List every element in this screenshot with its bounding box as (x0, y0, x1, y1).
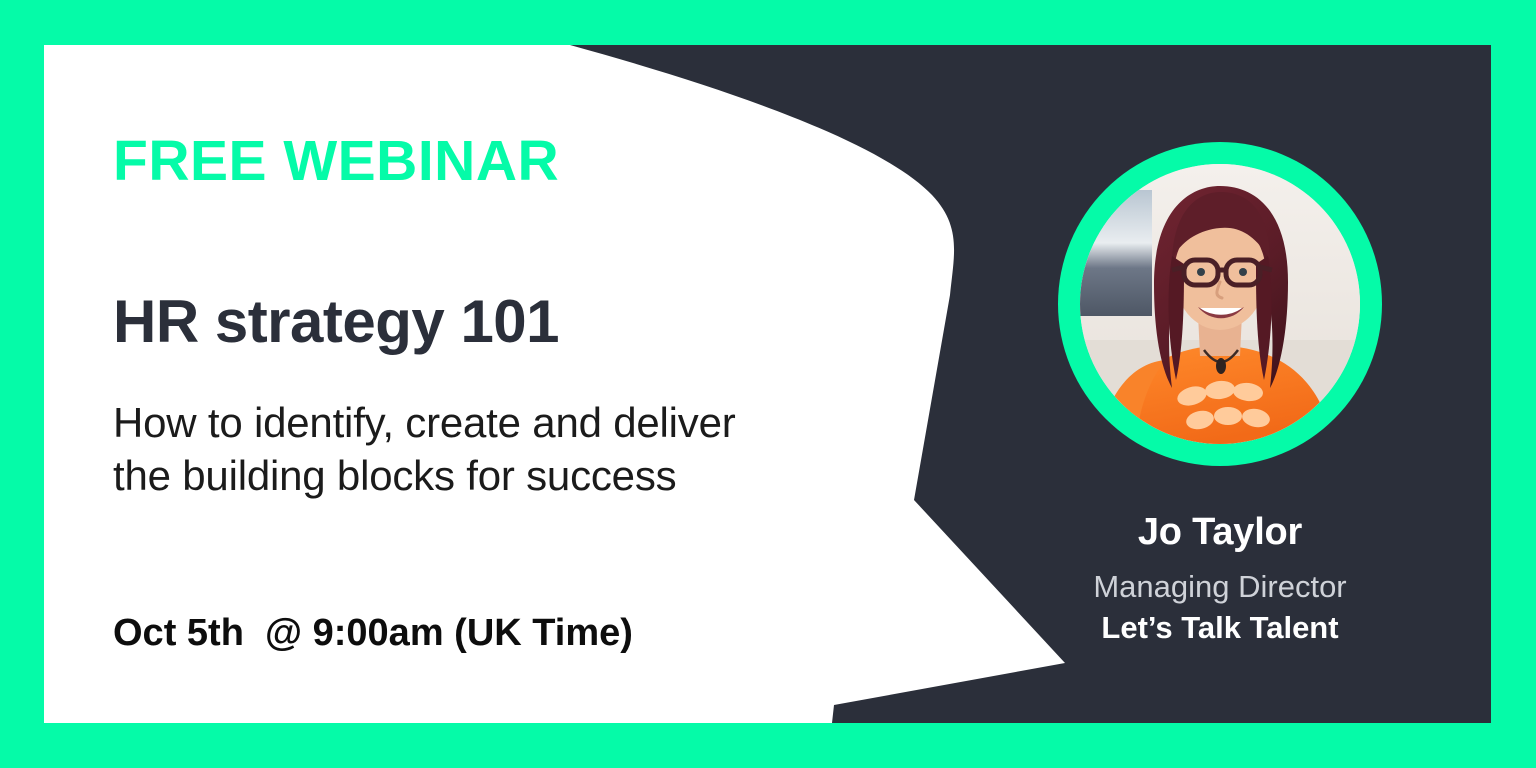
eyebrow-label: FREE WEBINAR (113, 133, 559, 190)
speaker-block: Jo Taylor Managing Director Let’s Talk T… (1020, 130, 1420, 643)
avatar-ring (1058, 142, 1382, 466)
speaker-role: Managing Director (1020, 571, 1420, 602)
promo-text-column: FREE WEBINAR HR strategy 101 How to iden… (113, 45, 873, 723)
speaker-name: Jo Taylor (1020, 513, 1420, 551)
subheadline-line-1: How to identify, create and deliver (113, 397, 853, 450)
webinar-promo-poster: FREE WEBINAR HR strategy 101 How to iden… (0, 0, 1536, 768)
subheadline: How to identify, create and deliver the … (113, 397, 853, 503)
avatar (1080, 164, 1360, 444)
subheadline-line-2: the building blocks for success (113, 450, 853, 503)
event-datetime: Oct 5th @ 9:00am (UK Time) (113, 614, 633, 652)
speaker-portrait-icon (1080, 164, 1360, 444)
page-title: HR strategy 101 (113, 292, 559, 352)
speaker-company: Let’s Talk Talent (1020, 612, 1420, 643)
